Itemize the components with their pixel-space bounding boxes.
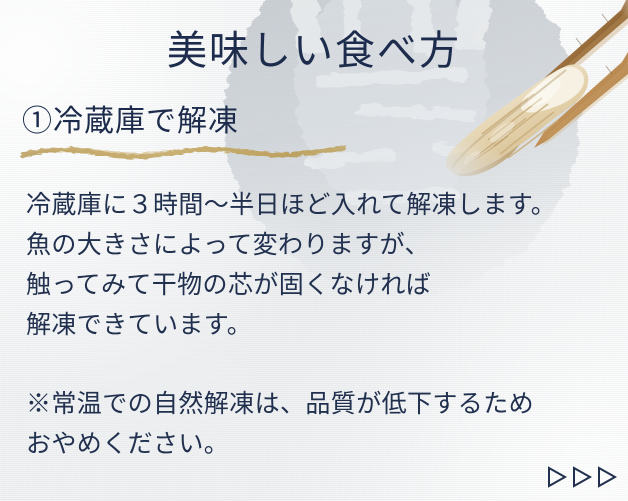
page-title: 美味しい食べ方 [0, 27, 628, 74]
caution-note: ※常温での自然解凍は、品質が低下するため おやめください。 [26, 385, 622, 465]
triangle-right-icon[interactable] [571, 465, 593, 489]
instruction-line: 解凍できています。 [26, 306, 622, 346]
instruction-line: 触ってみて干物の芯が固くなければ [26, 266, 622, 306]
note-line: おやめください。 [26, 425, 622, 465]
next-arrows[interactable] [546, 465, 618, 489]
instruction-line: 魚の大きさによって変わりますが、 [26, 226, 622, 266]
step-heading: ①冷蔵庫で解凍 [22, 104, 239, 140]
triangle-right-icon[interactable] [596, 465, 618, 489]
triangle-right-icon[interactable] [546, 465, 568, 489]
instruction-text: 冷蔵庫に３時間〜半日ほど入れて解凍します。 魚の大きさによって変わりますが、 触… [26, 186, 622, 346]
instruction-card: 美味しい食べ方 ①冷蔵庫で解凍 冷蔵庫に３時間〜半日ほど入れて解凍します。 魚の… [0, 0, 628, 501]
note-line: ※常温での自然解凍は、品質が低下するため [26, 385, 622, 425]
instruction-line: 冷蔵庫に３時間〜半日ほど入れて解凍します。 [26, 186, 622, 226]
